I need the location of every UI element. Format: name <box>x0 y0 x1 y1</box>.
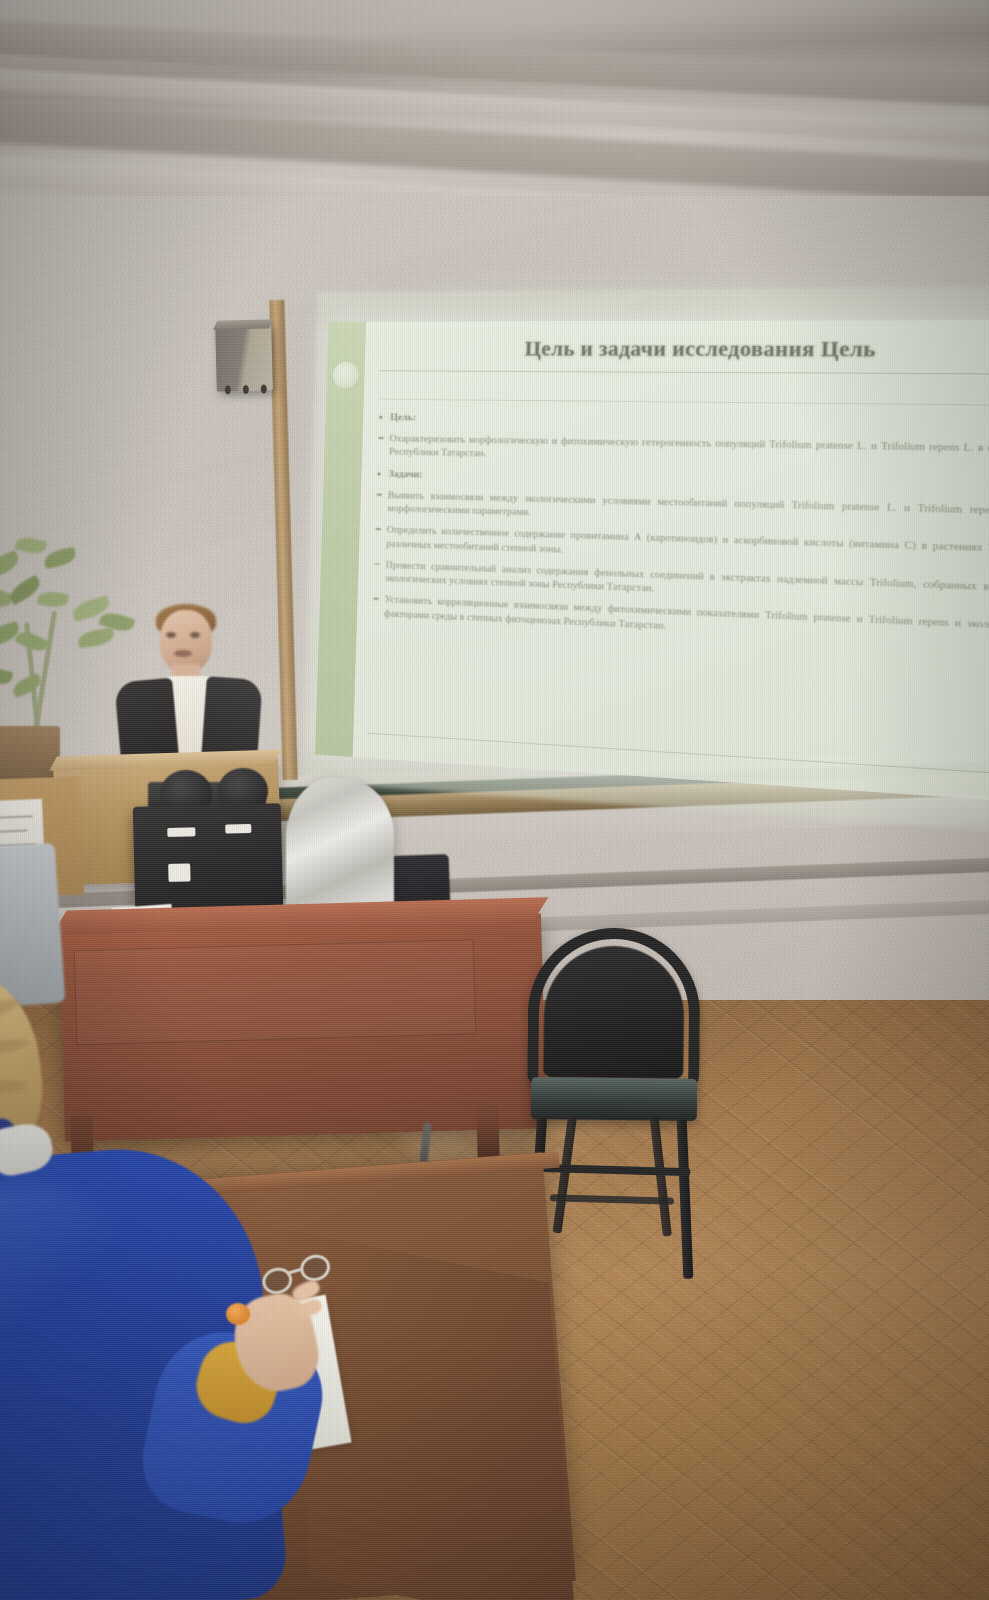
slide-bullet: Охарактеризовать морфологическую и фитох… <box>376 432 989 472</box>
wall-speaker-box <box>215 324 273 391</box>
speaker-box-top <box>213 319 273 330</box>
speaker-mount-screw <box>243 385 249 394</box>
chair-leg <box>552 1115 577 1233</box>
chair-seat <box>531 1077 697 1121</box>
black-monitor <box>133 803 284 912</box>
speaker-mount-screw <box>225 385 231 394</box>
glasses-lens <box>259 1264 295 1297</box>
presenter-eye <box>190 632 200 638</box>
presenter-eye <box>166 632 176 638</box>
slide-title: Цель и задачи исследования Цель <box>379 338 989 364</box>
plant-pot <box>0 726 60 784</box>
slide-secondary-divider <box>378 399 989 406</box>
plant-leaf <box>0 664 13 688</box>
slide-title-divider <box>379 370 989 374</box>
presenter-mouth <box>174 650 192 657</box>
plant-leaf <box>0 550 22 579</box>
projection-screen: Цель и задачи исследования Цель Цель: Ох… <box>302 286 989 837</box>
monitor-sticker <box>168 863 190 882</box>
chair-leg <box>650 1116 672 1236</box>
chair-leg <box>677 1119 694 1279</box>
plant-leaf <box>15 535 48 557</box>
paper-text-line <box>0 829 27 832</box>
audience-member-person <box>0 965 360 1600</box>
presenter-head <box>160 610 212 672</box>
plant-leaf <box>37 590 69 610</box>
monitor-label <box>225 824 251 834</box>
orange-ring <box>226 1303 250 1325</box>
monitor-label <box>167 827 195 837</box>
plant-leaf <box>43 547 78 569</box>
lecture-room-photo: Цель и задачи исследования Цель Цель: Ох… <box>0 0 989 1600</box>
slide-body: Цель: Охарактеризовать морфологическую и… <box>371 411 989 659</box>
glasses-lens <box>297 1251 333 1284</box>
glasses-bridge <box>287 1268 301 1275</box>
presentation-slide: Цель и задачи исследования Цель Цель: Ох… <box>315 320 989 804</box>
slide-bullet: Цель: <box>377 411 989 434</box>
speaker-mount-screw <box>261 384 267 393</box>
paper-text-line <box>0 815 33 819</box>
chair-rung <box>550 1194 674 1204</box>
